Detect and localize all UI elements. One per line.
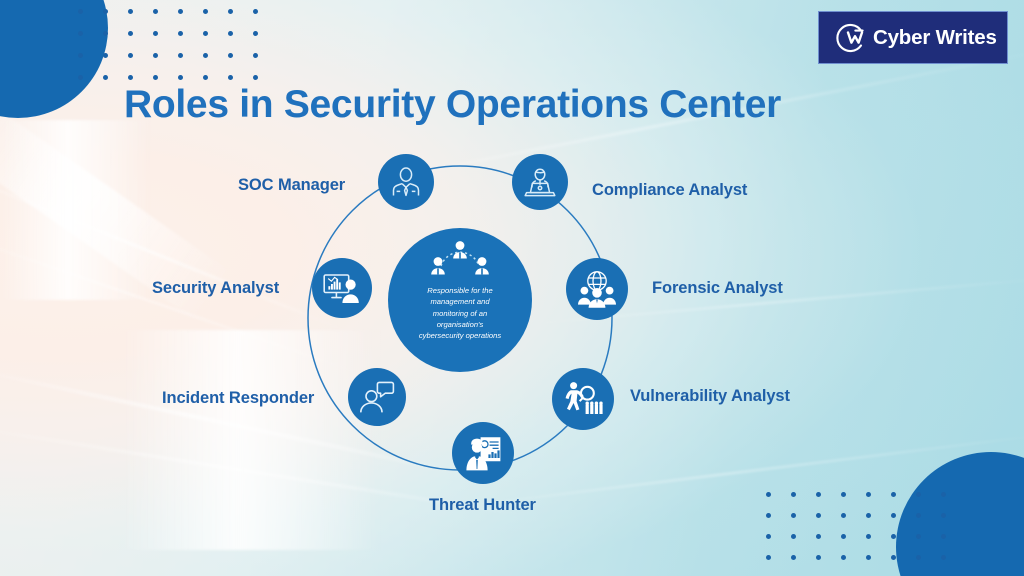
decor-dot <box>841 513 846 518</box>
decor-dot <box>203 75 208 80</box>
decor-dot <box>253 75 258 80</box>
role-node-compliance-analyst[interactable] <box>512 154 568 210</box>
hub-circle: Responsible for themanagement andmonitor… <box>388 228 532 372</box>
decor-dot <box>103 31 108 36</box>
decor-dot <box>841 555 846 560</box>
decor-dot <box>203 9 208 14</box>
role-label-vulnerability-analyst: Vulnerability Analyst <box>630 387 790 406</box>
hub-description-line: management and <box>401 296 519 307</box>
decor-dot <box>228 75 233 80</box>
role-node-vulnerability-analyst[interactable] <box>552 368 614 430</box>
decor-dot <box>941 492 946 497</box>
decor-dot <box>128 31 133 36</box>
decor-dot <box>78 53 83 58</box>
decor-dot <box>891 513 896 518</box>
decor-dot <box>791 492 796 497</box>
decor-dot <box>153 53 158 58</box>
decor-dot <box>816 492 821 497</box>
decor-dot <box>866 492 871 497</box>
decor-dot <box>791 513 796 518</box>
decor-dot <box>916 534 921 539</box>
decor-dot <box>916 513 921 518</box>
brand-logo-text: Cyber Writes <box>873 26 997 50</box>
decor-dot <box>228 31 233 36</box>
role-label-soc-manager: SOC Manager <box>238 176 345 195</box>
decor-dot <box>128 9 133 14</box>
person-suit-tie-icon <box>389 165 423 199</box>
decor-dot <box>916 555 921 560</box>
team-network-icon <box>429 239 491 279</box>
decor-dot <box>766 555 771 560</box>
brand-logo[interactable]: Cyber Writes <box>818 11 1008 64</box>
decor-dot <box>891 534 896 539</box>
hub-description-line: organisation's <box>401 319 519 330</box>
hub-description-line: monitoring of an <box>401 308 519 319</box>
globe-people-group-icon <box>577 270 617 308</box>
decor-dot <box>253 9 258 14</box>
person-laptop-icon <box>522 165 558 199</box>
person-speech-bubble-icon <box>359 381 395 413</box>
decor-dot <box>891 555 896 560</box>
decor-dot <box>178 31 183 36</box>
person-report-chart-icon <box>463 435 503 471</box>
role-node-forensic-analyst[interactable] <box>566 258 628 320</box>
decor-dot <box>941 534 946 539</box>
decor-dot <box>178 53 183 58</box>
page-title: Roles in Security Operations Center <box>124 83 781 127</box>
cw-monogram-icon <box>831 20 867 56</box>
role-node-incident-responder[interactable] <box>348 368 406 426</box>
decor-dot <box>916 492 921 497</box>
decor-dot <box>178 75 183 80</box>
role-label-compliance-analyst: Compliance Analyst <box>592 181 747 200</box>
decor-dot <box>78 9 83 14</box>
decor-dot <box>103 53 108 58</box>
role-label-threat-hunter: Threat Hunter <box>429 496 536 515</box>
decor-dot <box>228 53 233 58</box>
decor-dot <box>841 534 846 539</box>
decor-dot <box>178 9 183 14</box>
decor-dot <box>791 555 796 560</box>
decor-dot <box>203 31 208 36</box>
decor-dot <box>816 534 821 539</box>
decor-dot <box>816 513 821 518</box>
decor-dot <box>253 31 258 36</box>
decor-dot <box>841 492 846 497</box>
decor-dot <box>766 513 771 518</box>
hub-description: Responsible for themanagement andmonitor… <box>401 285 519 341</box>
role-label-incident-responder: Incident Responder <box>162 389 314 408</box>
role-node-soc-manager[interactable] <box>378 154 434 210</box>
decor-dot <box>791 534 796 539</box>
decor-dot <box>816 555 821 560</box>
decor-dot <box>228 9 233 14</box>
hub-description-line: Responsible for the <box>401 285 519 296</box>
hub-description-line: cybersecurity operations <box>401 330 519 341</box>
person-magnifier-servers-icon <box>563 381 603 417</box>
role-label-security-analyst: Security Analyst <box>152 279 279 298</box>
infographic-canvas: Cyber Writes Roles in Security Operation… <box>0 0 1024 576</box>
decor-dot <box>103 75 108 80</box>
decor-dot <box>153 75 158 80</box>
decor-dot <box>766 534 771 539</box>
decor-dot <box>253 53 258 58</box>
decor-dot <box>78 31 83 36</box>
monitor-chart-person-icon <box>323 272 361 304</box>
decor-dot <box>128 53 133 58</box>
decor-dot <box>891 492 896 497</box>
decor-dot <box>866 555 871 560</box>
decor-dot <box>203 53 208 58</box>
role-node-security-analyst[interactable] <box>312 258 372 318</box>
roles-diagram: Responsible for themanagement andmonitor… <box>270 140 670 540</box>
decor-dot <box>766 492 771 497</box>
decor-dot <box>153 31 158 36</box>
decor-dot <box>153 9 158 14</box>
decor-dot <box>941 513 946 518</box>
decor-dot <box>866 513 871 518</box>
decor-dot <box>128 75 133 80</box>
decor-dot <box>78 75 83 80</box>
decor-dot-grid-bottom-right <box>766 492 966 576</box>
decor-dot <box>941 555 946 560</box>
role-label-forensic-analyst: Forensic Analyst <box>652 279 783 298</box>
decor-dot <box>103 9 108 14</box>
decor-dot <box>866 534 871 539</box>
role-node-threat-hunter[interactable] <box>452 422 514 484</box>
